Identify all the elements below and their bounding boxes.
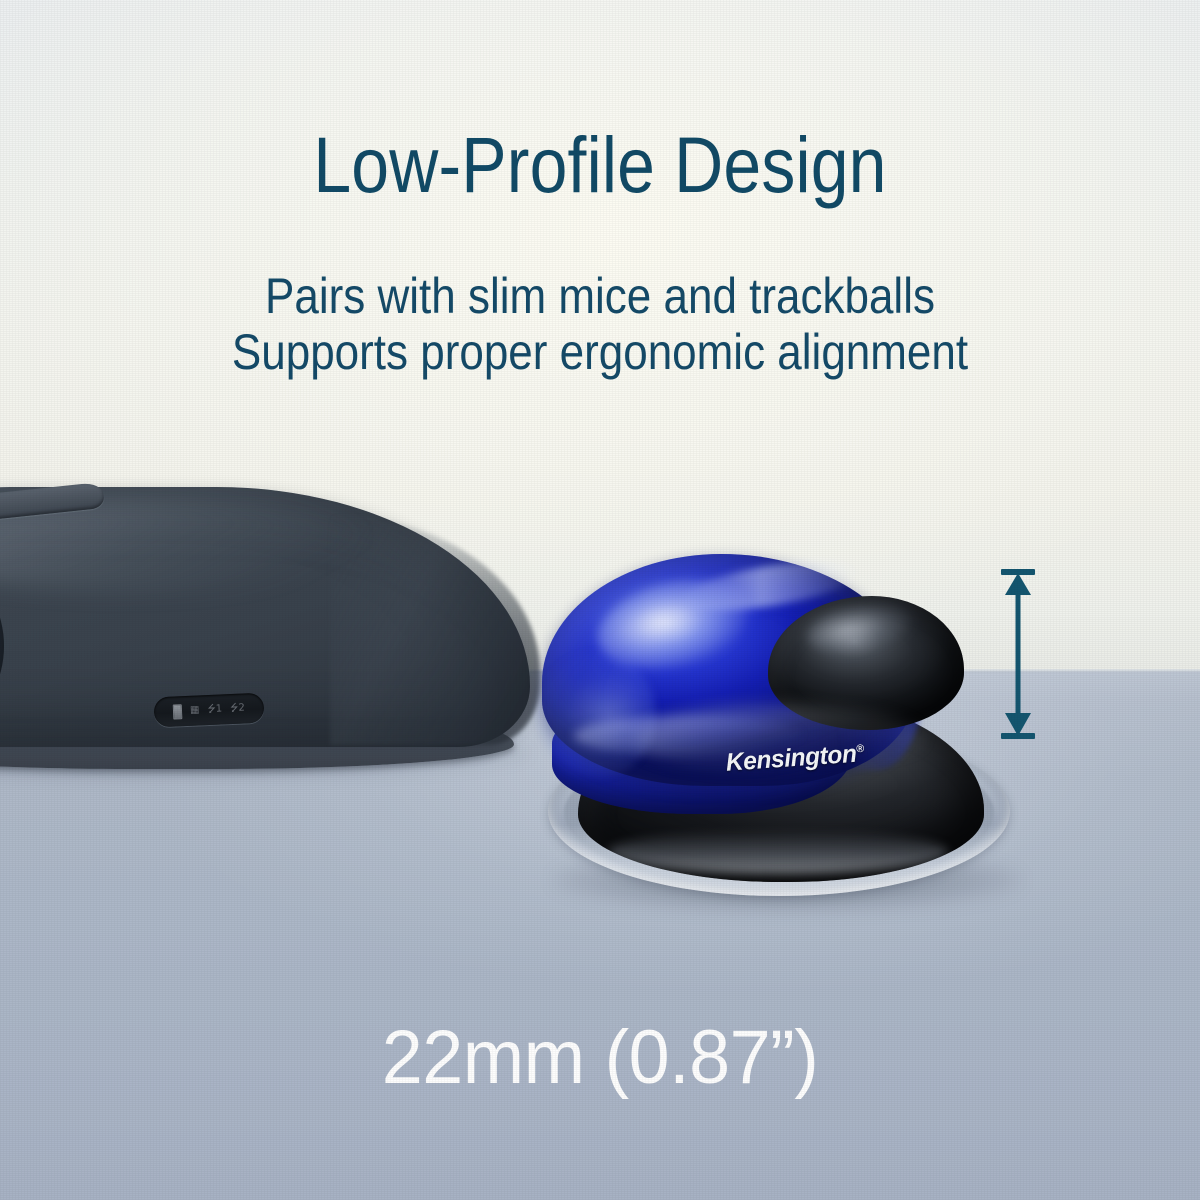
battery-icon <box>173 704 183 719</box>
bluetooth-1-icon: ⭍1 <box>207 704 222 715</box>
device-status-indicator-panel: ▦ ⭍1 ⭍2 <box>153 693 264 728</box>
dimension-arrowhead-down <box>1005 713 1031 736</box>
subtitle-line-2: Supports proper ergonomic alignment <box>72 324 1128 380</box>
height-dimension-arrow <box>988 560 1048 750</box>
page-title: Low-Profile Design <box>84 125 1116 204</box>
gel-wrist-rest: Kensington® <box>530 548 1030 928</box>
usb-receiver-icon: ▦ <box>190 705 200 715</box>
dimension-arrowhead-up <box>1005 573 1031 595</box>
gel-blue-rim-light <box>536 652 656 778</box>
trackball-device: ▦ ⭍1 ⭍2 <box>0 455 550 805</box>
subtitle-block: Pairs with slim mice and trackballs Supp… <box>72 268 1128 380</box>
product-feature-image: ▦ ⭍1 ⭍2 Kensington® Low-Profil <box>0 0 1200 1200</box>
measurement-label: 22mm (0.87”) <box>18 1016 1182 1100</box>
bluetooth-2-icon: ⭍2 <box>230 703 245 714</box>
dimension-shaft <box>1016 580 1021 730</box>
registered-trademark-mark: ® <box>856 743 864 755</box>
subtitle-line-1: Pairs with slim mice and trackballs <box>72 268 1128 324</box>
gel-dark-dome-lower-gloss <box>608 830 948 874</box>
